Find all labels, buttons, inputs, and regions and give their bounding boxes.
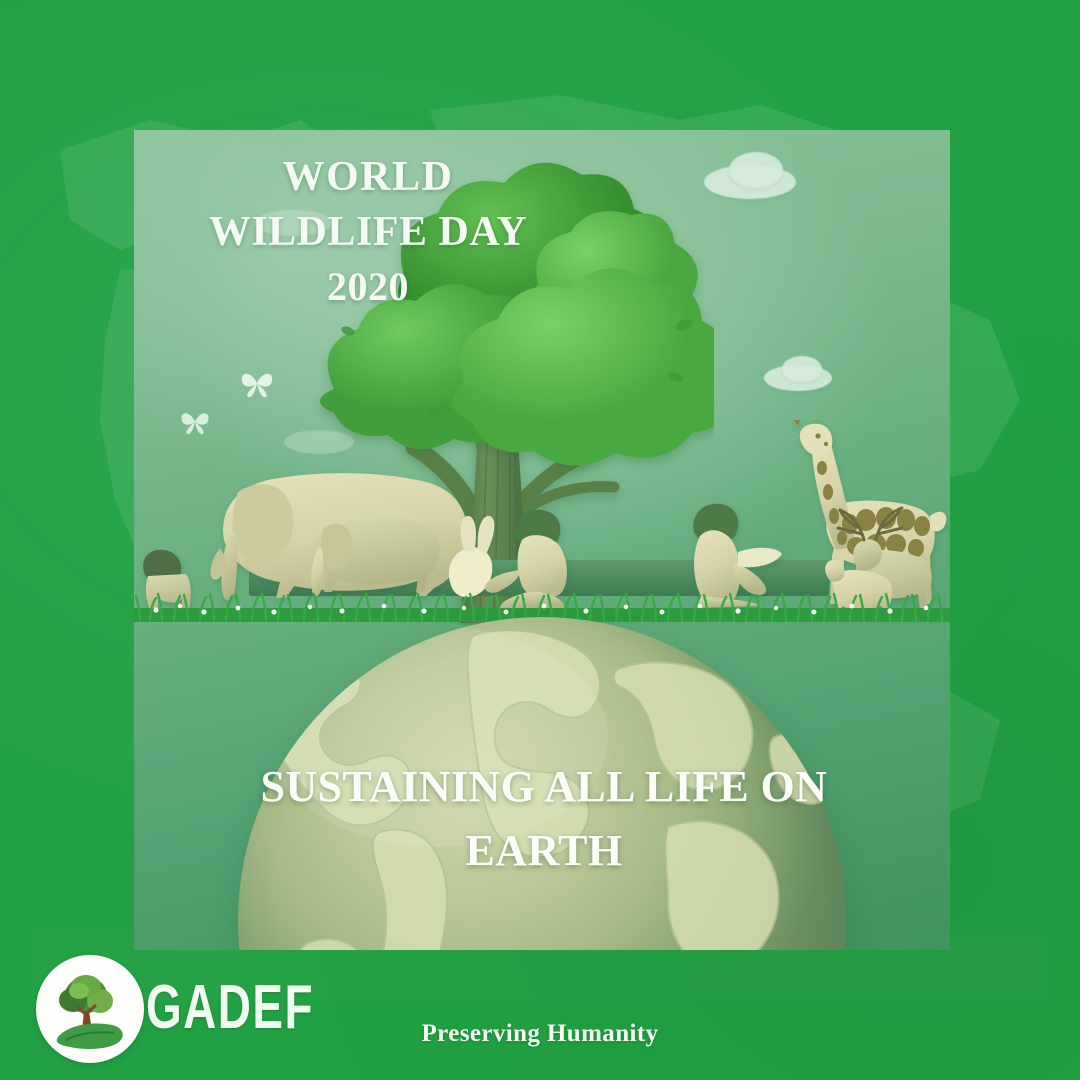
cloud-icon [782,356,822,382]
tagline-line-2: EARTH [194,819,894,883]
footer-bar: GADEF [0,950,1080,1080]
title-line-3: 2020 [158,261,578,314]
title-line-2: WILDLIFE DAY [158,205,578,260]
poster-title: WORLD WILDLIFE DAY 2020 [158,150,578,314]
footer-tagline: Preserving Humanity [0,1020,1080,1048]
cloud-icon [729,152,783,188]
poster-tagline: SUSTAINING ALL LIFE ON EARTH [194,755,894,883]
wildlife-figures [134,420,950,620]
tagline-line-1: SUSTAINING ALL LIFE ON [194,755,894,819]
baby-elephant-figure [311,516,439,596]
title-line-1: WORLD [158,150,578,205]
butterfly-icon [239,368,275,398]
poster-image-panel: WORLD WILDLIFE DAY 2020 SUSTAINING ALL L… [134,130,950,950]
